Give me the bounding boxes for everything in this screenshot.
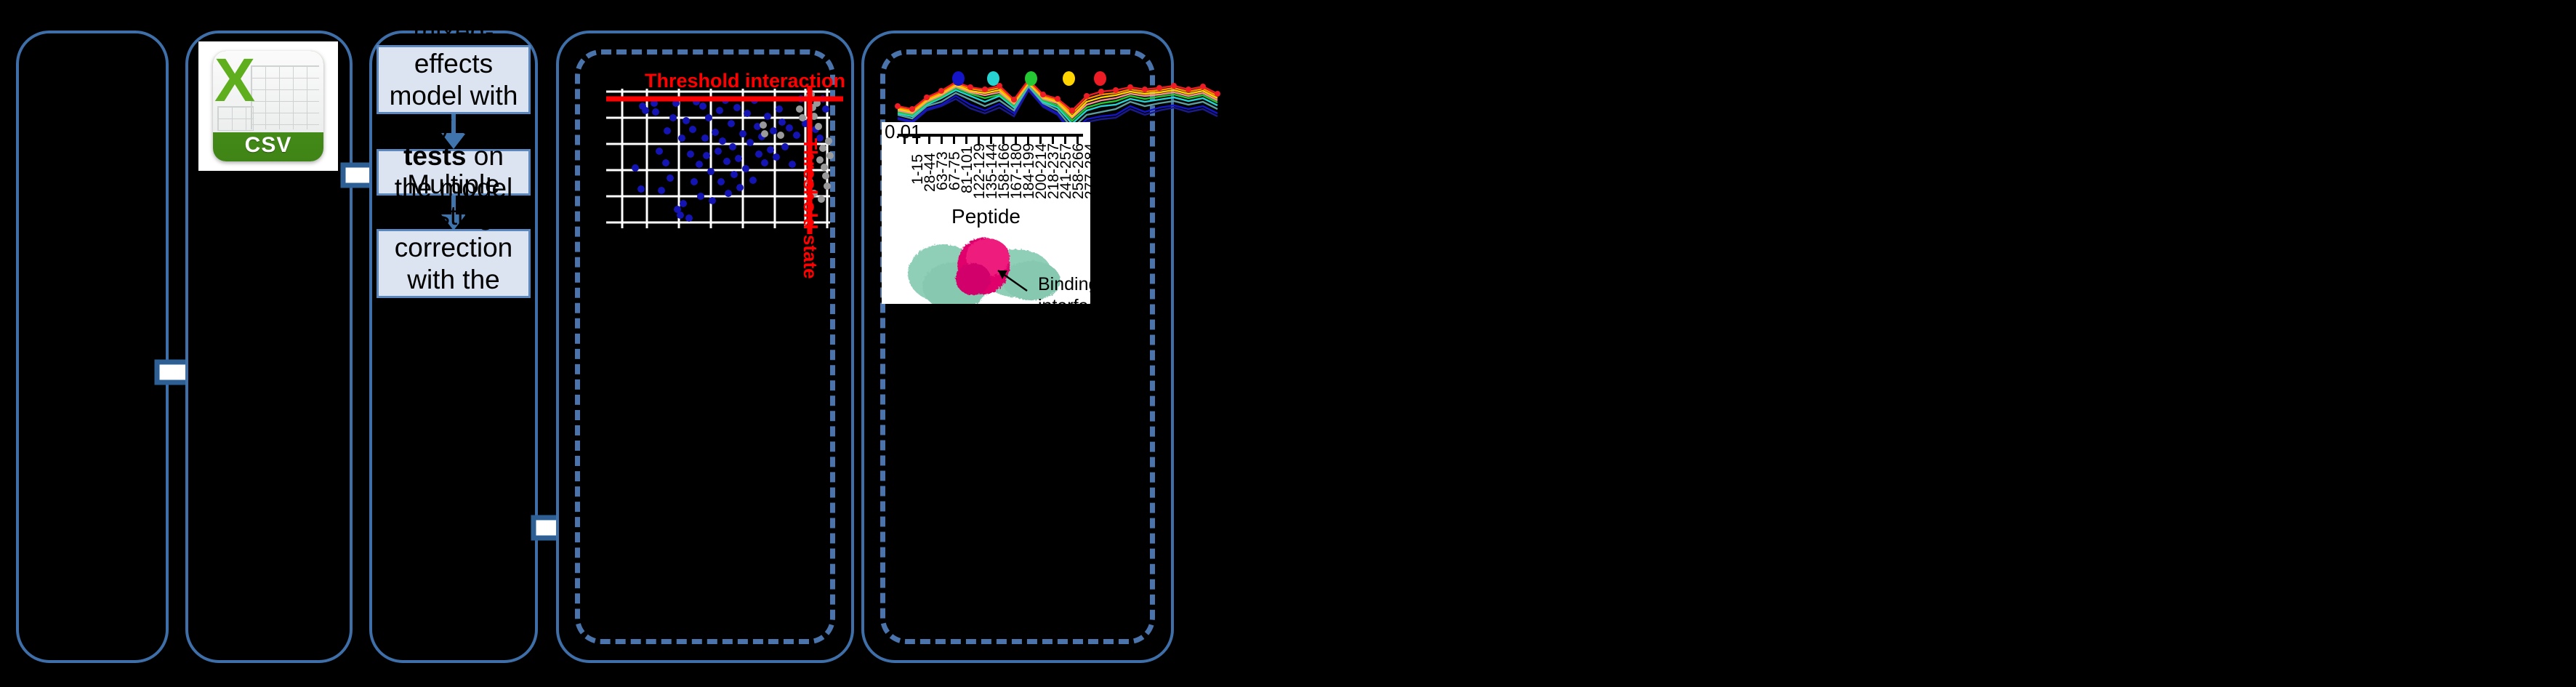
peptide-structure-card: 0.01 1-15 28-44 63-73 67-75 81-101 122-1… (882, 122, 1090, 304)
legend-dot-3 (1025, 71, 1037, 86)
legend-dot-5 (1094, 71, 1106, 86)
peptide-tick (941, 137, 943, 144)
threshold-state-label: Threshold state (799, 138, 821, 279)
csv-format-label: CSV (213, 129, 323, 161)
peptide-axis-title: Peptide (882, 205, 1090, 228)
bh-correction-step[interactable]: Multiple testing correction with the BH … (377, 229, 531, 298)
figure-canvas: X CSV Fit a linear mixed- effects model … (0, 0, 2576, 687)
legend-dot-2 (987, 71, 999, 86)
peptide-tick (965, 137, 967, 144)
legend-dot-4 (1063, 71, 1075, 86)
fit-model-step[interactable]: Fit a linear mixed- effects model with R… (377, 45, 531, 114)
peptide-tick (953, 137, 955, 144)
legend-dot-1 (952, 71, 965, 86)
peptide-tick-label: 277-284 (1082, 143, 1090, 199)
bh-correction-step-text: Multiple testing correction with the BH … (385, 169, 523, 359)
peptide-tick (903, 137, 906, 144)
peptide-tick (916, 137, 918, 144)
csv-tile: X CSV (213, 51, 323, 161)
csv-sheet-body: X (213, 51, 323, 132)
csv-grid-main (251, 65, 319, 129)
excel-x-icon: X (214, 55, 255, 108)
peptide-tick (928, 137, 930, 144)
threshold-scatter-plot: Threshold interaction (590, 65, 843, 240)
binding-interface-label: Binding interface (1038, 273, 1090, 304)
csv-file-icon[interactable]: X CSV (198, 41, 338, 171)
panel-input (16, 31, 169, 663)
